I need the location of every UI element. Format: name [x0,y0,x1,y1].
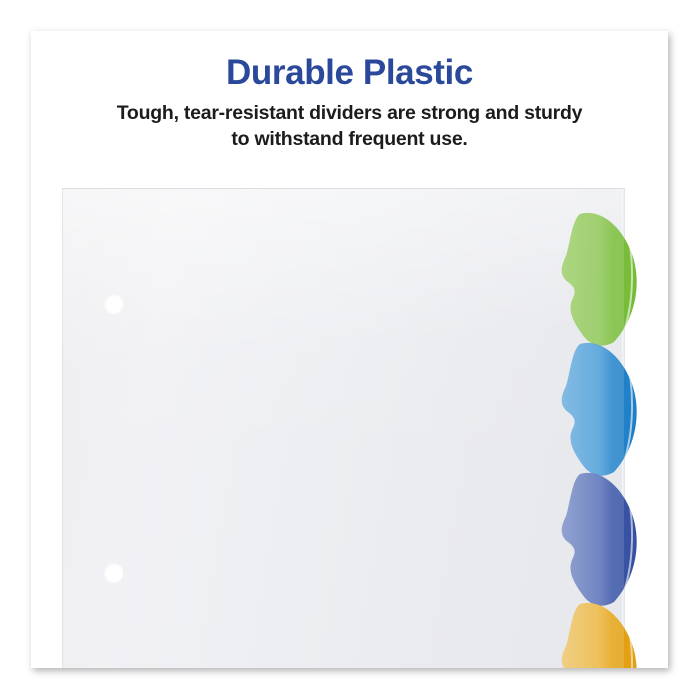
blue-tab[interactable] [556,336,646,481]
orange-tab[interactable] [556,596,646,668]
indigo-tab[interactable] [556,466,646,611]
page-title: Durable Plastic [31,31,668,92]
bottom-punch-hole-icon [104,563,123,582]
divider-sheet [62,188,625,668]
product-image-card: Durable Plastic Tough, tear-resistant di… [31,31,668,668]
page-subtitle-line-2: to withstand frequent use. [31,127,668,153]
green-tab[interactable] [556,206,646,351]
sheet-gloss-overlay [63,189,625,668]
headline-block: Durable Plastic Tough, tear-resistant di… [31,31,668,153]
top-punch-hole-icon [104,294,123,313]
screenshot-stage: Durable Plastic Tough, tear-resistant di… [0,0,700,700]
page-subtitle-line-1: Tough, tear-resistant dividers are stron… [31,101,668,127]
page-subtitle: Tough, tear-resistant dividers are stron… [31,92,668,153]
